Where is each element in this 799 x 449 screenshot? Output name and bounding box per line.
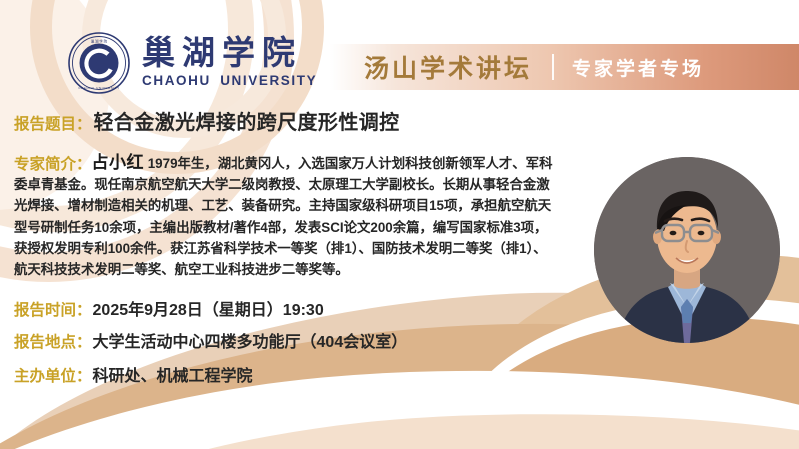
speaker-portrait xyxy=(594,157,780,343)
report-time-row: 报告时间： 2025年9月28日（星期日）19:30 xyxy=(14,296,324,320)
report-time-value: 2025年9月28日（星期日）19:30 xyxy=(93,296,324,320)
report-title-value: 轻合金激光焊接的跨尺度形性调控 xyxy=(94,106,400,135)
report-place-value: 大学生活动中心四楼多功能厅（404会议室） xyxy=(93,328,408,352)
report-host-row: 主办单位： 科研处、机械工程学院 xyxy=(14,362,253,386)
report-host-label: 主办单位： xyxy=(14,364,92,386)
report-place-label: 报告地点： xyxy=(14,330,92,352)
report-title-row: 报告题目： 轻合金激光焊接的跨尺度形性调控 xyxy=(14,106,400,135)
speaker-bio-text: 占小红 1979年生，湖北黄冈人，入选国家万人计划科技创新领军人才、军科委卓青基… xyxy=(14,156,552,277)
report-place-row: 报告地点： 大学生活动中心四楼多功能厅（404会议室） xyxy=(14,328,407,352)
speaker-bio-row: 专家简介： 占小红 1979年生，湖北黄冈人，入选国家万人计划科技创新领军人才、… xyxy=(14,152,554,280)
report-title-label: 报告题目： xyxy=(14,112,92,134)
report-time-label: 报告时间： xyxy=(14,298,92,320)
speaker-name: 占小红 xyxy=(92,153,145,172)
report-host-value: 科研处、机械工程学院 xyxy=(93,362,253,386)
speaker-bio-label: 专家简介： xyxy=(14,152,92,174)
speaker-bio-body: 1979年生，湖北黄冈人，入选国家万人计划科技创新领军人才、军科委卓青基金。现任… xyxy=(14,156,552,277)
lecture-poster: 巢 湖 学 院 CHAOHU UNIVERSITY 1977 巢湖学院 CHAO… xyxy=(0,0,799,449)
